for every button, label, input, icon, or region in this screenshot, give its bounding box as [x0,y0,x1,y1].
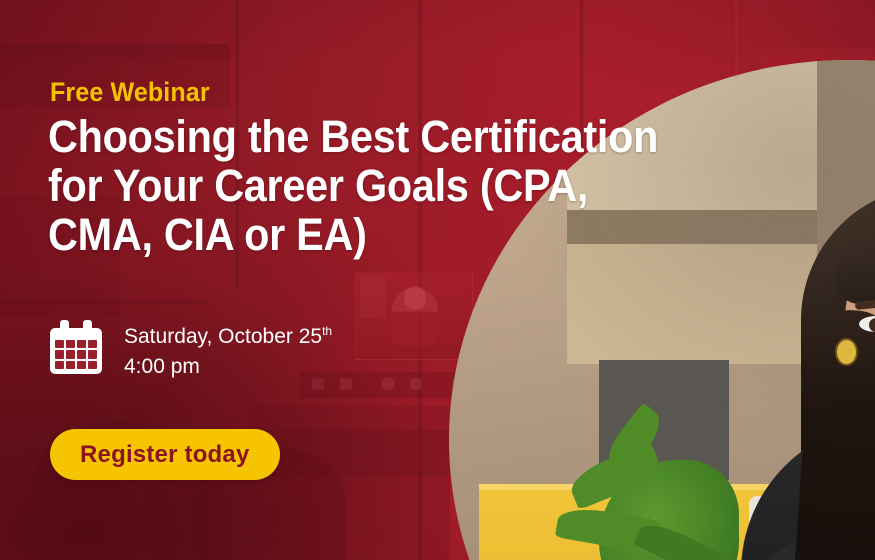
schedule-date-text: Saturday, October 25 [124,325,322,348]
headline-line-2: for Your Career Goals (CPA, [48,161,600,210]
schedule-date-ordinal: th [322,324,332,338]
calendar-icon-grid [55,340,97,369]
register-today-button[interactable]: Register today [50,429,280,480]
schedule-row: Saturday, October 25th 4:00 pm [50,316,332,382]
schedule-time: 4:00 pm [124,352,332,382]
eyebrow-label: Free Webinar [50,77,210,108]
calendar-icon [50,320,102,374]
headline-line-1: Choosing the Best Certification [48,112,600,161]
schedule-date: Saturday, October 25th [124,316,332,352]
headline-line-3: CMA, CIA or EA) [48,210,600,259]
page-title: Choosing the Best Certification for Your… [48,112,600,259]
banner-content: Free Webinar Choosing the Best Certifica… [0,0,875,560]
webinar-promo-banner: Free Webinar Choosing the Best Certifica… [0,0,875,560]
schedule-text: Saturday, October 25th 4:00 pm [124,316,332,382]
